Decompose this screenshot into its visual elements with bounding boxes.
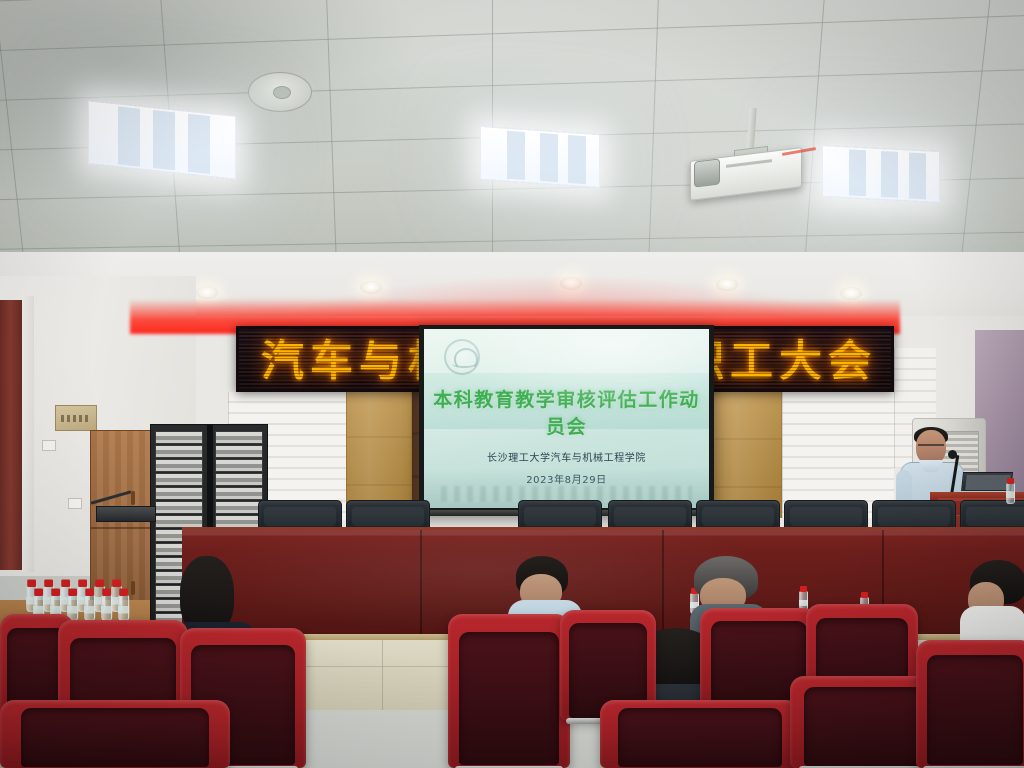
downlight-6 xyxy=(840,287,862,300)
ceiling xyxy=(0,0,1024,258)
rack-module xyxy=(155,459,203,472)
university-emblem-icon xyxy=(444,339,480,375)
rack-module xyxy=(215,487,263,500)
rack-module xyxy=(155,501,203,514)
rack-module xyxy=(215,473,263,486)
water-bottle-podium[interactable] xyxy=(1006,478,1015,504)
downlight-4 xyxy=(560,277,582,290)
light-switch-icon[interactable] xyxy=(42,440,56,451)
rack-module xyxy=(215,459,263,472)
downlight-3 xyxy=(360,281,382,294)
wall-plaque xyxy=(55,405,97,431)
rack-module xyxy=(155,431,203,444)
downlight-2 xyxy=(196,286,218,299)
floor-tile-seam xyxy=(382,640,383,710)
ceiling-panel-light-2 xyxy=(480,126,600,188)
audience-seat-11[interactable] xyxy=(0,700,230,768)
slide-surface: 本科教育教学审核评估工作动员会 长沙理工大学汽车与机械工程学院 2023年8月2… xyxy=(424,329,709,508)
cabinet-handle-upper[interactable] xyxy=(131,491,135,505)
meeting-room-photo: 汽车与机 职工大会 本科教育教学审核评估工作动员会 长沙理工大学汽车与机械工程学… xyxy=(0,0,1024,768)
rack-module xyxy=(215,445,263,458)
water-bottle[interactable] xyxy=(101,589,112,622)
rack-module xyxy=(155,445,203,458)
audience-seat-10[interactable] xyxy=(916,640,1024,768)
audience-seat-4[interactable] xyxy=(448,614,570,768)
rack-module xyxy=(155,473,203,486)
slide-title: 本科教育教学审核评估工作动员会 xyxy=(424,385,709,439)
laptop-screen xyxy=(965,475,1011,490)
water-bottle[interactable] xyxy=(118,589,129,622)
downlight-5 xyxy=(716,278,738,291)
smoke-detector-icon xyxy=(248,72,312,112)
audience-seat-8[interactable] xyxy=(600,700,800,768)
slide-subtitle: 长沙理工大学汽车与机械工程学院 xyxy=(424,449,709,464)
projection-screen: 本科教育教学审核评估工作动员会 长沙理工大学汽车与机械工程学院 2023年8月2… xyxy=(419,325,714,515)
projector-lens-icon xyxy=(694,158,720,187)
door-jamb xyxy=(22,296,34,572)
audio-mixer[interactable] xyxy=(96,506,156,522)
glasses-icon xyxy=(918,444,944,450)
ceiling-panel-light-3 xyxy=(822,145,940,203)
microphone-icon xyxy=(948,450,957,459)
water-bottle[interactable] xyxy=(84,589,95,622)
rack-module xyxy=(155,487,203,500)
wall-socket-icon[interactable] xyxy=(68,498,82,509)
rack-module xyxy=(215,431,263,444)
ceiling-projector xyxy=(690,140,808,196)
